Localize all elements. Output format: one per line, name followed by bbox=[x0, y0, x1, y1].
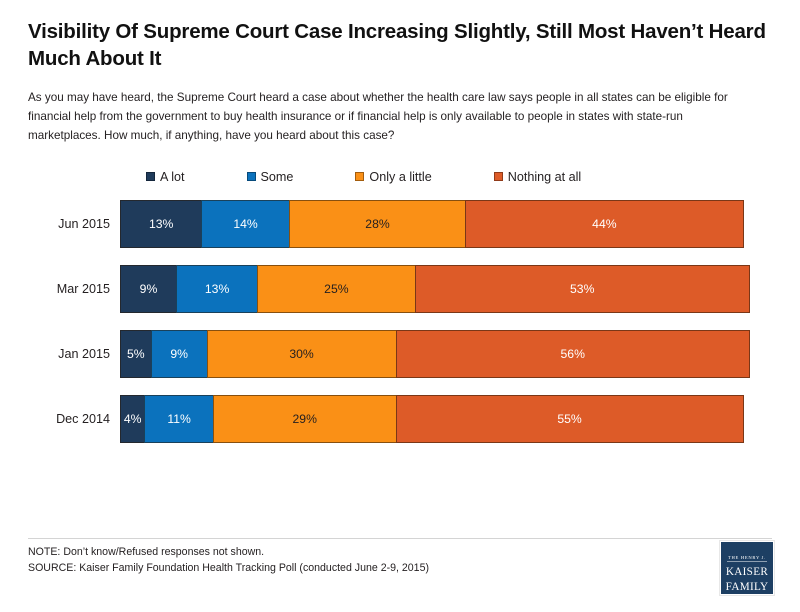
bar-segment-a-lot[interactable]: 5% bbox=[120, 330, 152, 378]
legend-swatch-icon bbox=[494, 172, 503, 181]
bar-segment-value: 11% bbox=[167, 413, 191, 425]
bar-segment-value: 28% bbox=[365, 218, 389, 230]
bar-segment-a-lot[interactable]: 13% bbox=[120, 200, 202, 248]
chart-legend: A lotSomeOnly a littleNothing at all bbox=[0, 170, 800, 184]
chart-subtitle: As you may have heard, the Supreme Court… bbox=[28, 89, 756, 146]
bar-segment-value: 9% bbox=[140, 283, 158, 295]
footer-source: SOURCE: Kaiser Family Foundation Health … bbox=[28, 561, 429, 577]
bar-segment-value: 53% bbox=[570, 283, 594, 295]
bar-row: Jan 20155%9%30%56% bbox=[28, 330, 800, 378]
bar-segment-nothing-at-all[interactable]: 53% bbox=[415, 265, 750, 313]
bar-segment-some[interactable]: 13% bbox=[176, 265, 258, 313]
bar-row: Mar 20159%13%25%53% bbox=[28, 265, 800, 313]
bar-segment-only-a-little[interactable]: 25% bbox=[257, 265, 415, 313]
legend-item-some[interactable]: Some bbox=[247, 170, 294, 184]
bar-segment-a-lot[interactable]: 4% bbox=[120, 395, 145, 443]
chart-footer: NOTE: Don’t know/Refused responses not s… bbox=[0, 538, 800, 600]
bar-segment-value: 13% bbox=[149, 218, 173, 230]
bar-segment-only-a-little[interactable]: 28% bbox=[289, 200, 466, 248]
stacked-bar: 5%9%30%56% bbox=[120, 330, 749, 378]
bar-segment-only-a-little[interactable]: 29% bbox=[213, 395, 397, 443]
stacked-bar: 4%11%29%55% bbox=[120, 395, 743, 443]
logo-line-family: FAMILY bbox=[721, 581, 773, 594]
legend-swatch-icon bbox=[355, 172, 364, 181]
bar-row: Dec 20144%11%29%55% bbox=[28, 395, 800, 443]
bar-segment-value: 5% bbox=[127, 348, 145, 360]
legend-item-only-a-little[interactable]: Only a little bbox=[355, 170, 431, 184]
legend-item-label: Only a little bbox=[369, 170, 431, 184]
kaiser-family-foundation-logo: THE HENRY J. KAISER FAMILY FOUNDATION bbox=[720, 541, 774, 595]
legend-item-nothing-at-all[interactable]: Nothing at all bbox=[494, 170, 582, 184]
legend-swatch-icon bbox=[247, 172, 256, 181]
bar-segment-value: 13% bbox=[205, 283, 229, 295]
bar-segment-value: 55% bbox=[557, 413, 581, 425]
footer-notes: NOTE: Don’t know/Refused responses not s… bbox=[28, 545, 429, 577]
bar-row-label: Mar 2015 bbox=[28, 282, 120, 296]
bar-row-label: Dec 2014 bbox=[28, 412, 120, 426]
legend-swatch-icon bbox=[146, 172, 155, 181]
bar-segment-some[interactable]: 14% bbox=[201, 200, 290, 248]
bar-segment-value: 9% bbox=[170, 348, 188, 360]
bar-segment-value: 44% bbox=[592, 218, 616, 230]
stacked-bar: 13%14%28%44% bbox=[120, 200, 743, 248]
bar-segment-some[interactable]: 9% bbox=[151, 330, 208, 378]
chart-header: Visibility Of Supreme Court Case Increas… bbox=[0, 0, 800, 146]
bar-segment-some[interactable]: 11% bbox=[144, 395, 214, 443]
bar-segment-value: 4% bbox=[124, 413, 142, 425]
bar-segment-only-a-little[interactable]: 30% bbox=[207, 330, 397, 378]
stacked-bar: 9%13%25%53% bbox=[120, 265, 749, 313]
bar-row: Jun 201513%14%28%44% bbox=[28, 200, 800, 248]
bar-segment-nothing-at-all[interactable]: 44% bbox=[465, 200, 744, 248]
bar-segment-value: 25% bbox=[324, 283, 348, 295]
footer-divider bbox=[28, 538, 772, 539]
logo-line-foundation: FOUNDATION bbox=[727, 602, 767, 609]
bar-segment-value: 14% bbox=[233, 218, 257, 230]
bar-segment-nothing-at-all[interactable]: 56% bbox=[396, 330, 750, 378]
chart-title: Visibility Of Supreme Court Case Increas… bbox=[28, 18, 768, 72]
footer-note: NOTE: Don’t know/Refused responses not s… bbox=[28, 545, 429, 561]
legend-item-a-lot[interactable]: A lot bbox=[146, 170, 185, 184]
bar-segment-value: 56% bbox=[561, 348, 585, 360]
chart-plot-area: Jun 201513%14%28%44%Mar 20159%13%25%53%J… bbox=[0, 200, 800, 443]
logo-line-kaiser: KAISER bbox=[721, 566, 773, 579]
bar-segment-nothing-at-all[interactable]: 55% bbox=[396, 395, 744, 443]
legend-item-label: A lot bbox=[160, 170, 185, 184]
legend-item-label: Nothing at all bbox=[508, 170, 582, 184]
legend-item-label: Some bbox=[261, 170, 294, 184]
bar-row-label: Jan 2015 bbox=[28, 347, 120, 361]
bar-segment-value: 29% bbox=[293, 413, 317, 425]
bar-segment-value: 30% bbox=[289, 348, 313, 360]
bar-segment-a-lot[interactable]: 9% bbox=[120, 265, 177, 313]
bar-row-label: Jun 2015 bbox=[28, 217, 120, 231]
logo-line-henry: THE HENRY J. bbox=[727, 555, 767, 562]
